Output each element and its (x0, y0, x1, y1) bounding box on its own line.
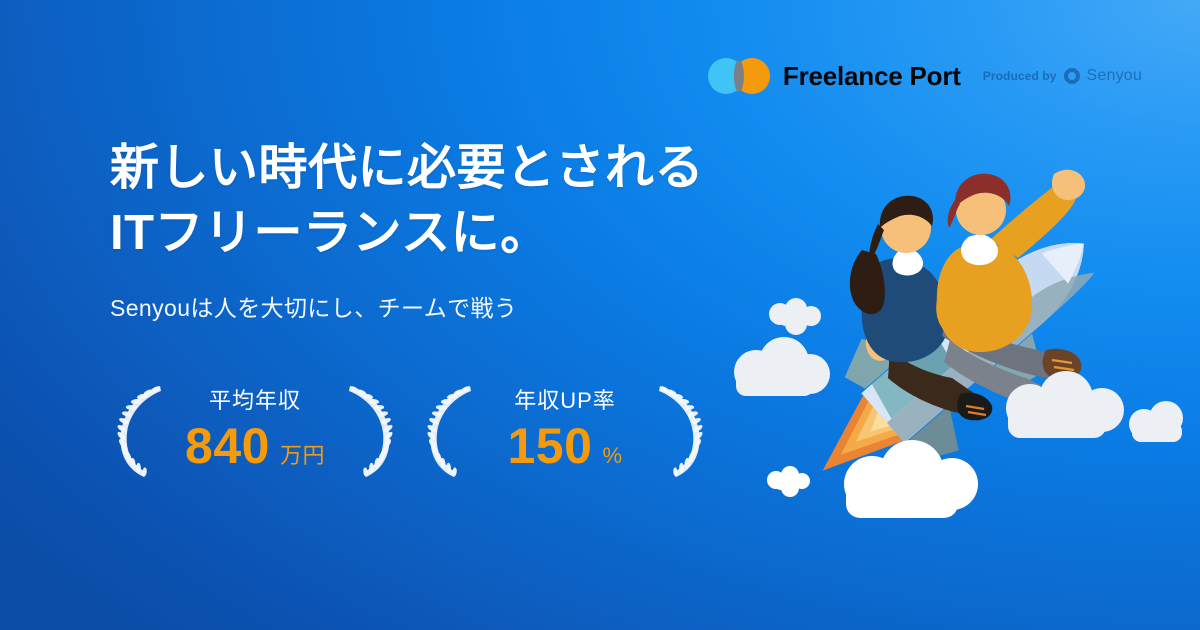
stat-income-up-rate: 年収UP率 150 % (420, 378, 710, 482)
laurel-wreath-icon (340, 380, 400, 480)
produced-by-credit[interactable]: Produced by Senyou (983, 67, 1142, 85)
rocket-with-two-people-icon (730, 150, 1200, 550)
stats-group: 平均年収 840 万円 (110, 378, 710, 482)
laurel-wreath-icon (650, 380, 710, 480)
stat-label: 年収UP率 (514, 390, 616, 412)
headline-line-1: 新しい時代に必要とされる (110, 136, 760, 201)
stat-label: 平均年収 (209, 390, 301, 412)
senyou-ring-icon (1064, 68, 1080, 84)
freelance-port-logo[interactable]: Freelance Port (708, 58, 961, 94)
stat-number: 840 (185, 421, 270, 471)
hero-banner: Freelance Port Produced by Senyou 新しい時代に… (0, 0, 1200, 630)
laurel-wreath-icon (110, 380, 170, 480)
headline-line-2: ITフリーランスに。 (110, 201, 760, 266)
stat-average-annual-income: 平均年収 840 万円 (110, 378, 400, 482)
two-overlapping-circles-icon (708, 58, 770, 94)
stat-value-row: 840 万円 (185, 421, 325, 471)
hero-copy: 新しい時代に必要とされる ITフリーランスに。 Senyouは人を大切にし、チー… (110, 136, 760, 326)
brand-name: Freelance Port (783, 61, 961, 92)
laurel-wreath-icon (420, 380, 480, 480)
brand-bar: Freelance Port Produced by Senyou (708, 58, 1142, 94)
stat-unit: % (602, 445, 622, 467)
stat-unit: 万円 (280, 445, 325, 467)
partner-name: Senyou (1087, 67, 1142, 85)
page-title: 新しい時代に必要とされる ITフリーランスに。 (110, 136, 760, 265)
produced-by-label: Produced by (983, 69, 1057, 83)
stat-number: 150 (508, 421, 593, 471)
stat-value-row: 150 % (508, 421, 623, 471)
hero-subhead: Senyouは人を大切にし、チームで戦う (110, 291, 760, 326)
